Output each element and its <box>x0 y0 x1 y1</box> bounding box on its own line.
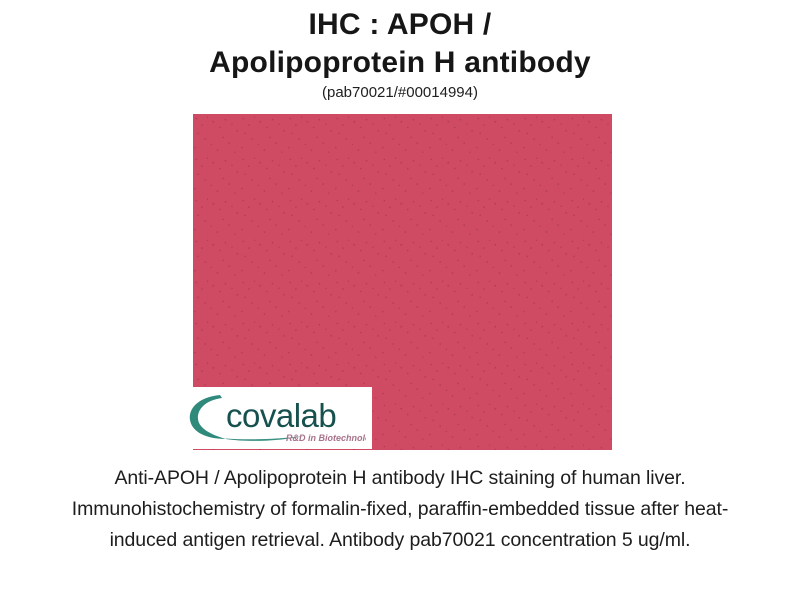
page-subtitle-catalog-number: (pab70021/#00014994) <box>0 83 800 103</box>
covalab-wordmark: covalab <box>226 397 336 434</box>
figure-caption: Anti-APOH / Apolipoprotein H antibody IH… <box>70 463 730 556</box>
figure-header: IHC : APOH / Apolipoprotein H antibody (… <box>0 0 800 103</box>
page-title-line-1: IHC : APOH / <box>0 6 800 44</box>
covalab-logo-svg: covalab R&D in Biotechnology <box>186 389 366 445</box>
figure-caption-text: Anti-APOH / Apolipoprotein H antibody IH… <box>70 463 730 556</box>
covalab-logo: covalab R&D in Biotechnology <box>180 387 372 449</box>
micrograph-figure: covalab R&D in Biotechnology <box>193 114 612 450</box>
covalab-tagline: R&D in Biotechnology <box>286 433 366 443</box>
page-title-line-2: Apolipoprotein H antibody <box>0 44 800 82</box>
swoosh-icon <box>190 395 226 439</box>
